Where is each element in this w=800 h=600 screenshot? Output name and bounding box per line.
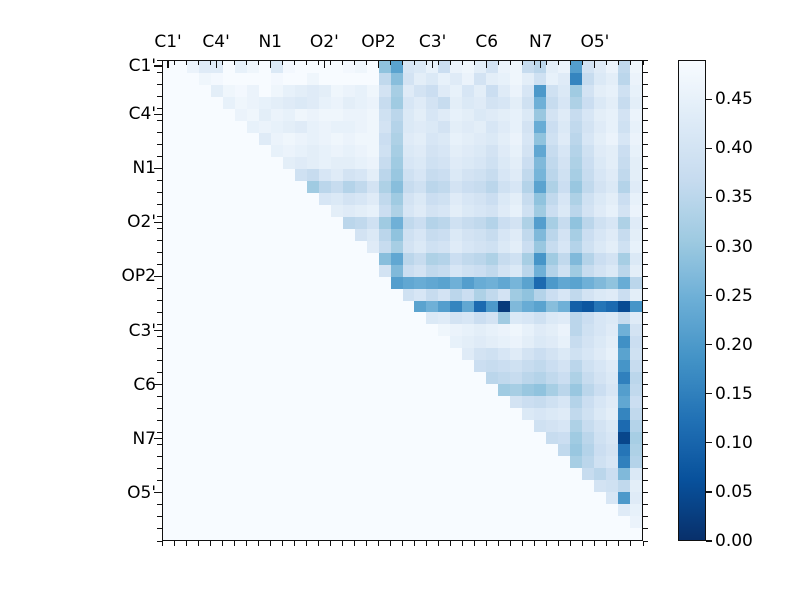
heatmap-cell [391,205,403,217]
x-tick-bottom [294,541,295,546]
heatmap-cell [163,324,175,336]
heatmap-cell [307,348,319,360]
heatmap-cell [367,348,379,360]
heatmap-cell [247,456,259,468]
x-tick-top [534,60,535,65]
heatmap-cell [247,157,259,169]
heatmap-cell [498,312,510,324]
heatmap-cell [570,97,582,109]
heatmap-cell [438,157,450,169]
heatmap-cell [307,384,319,396]
y-tick-left [157,72,162,73]
heatmap-cell [211,265,223,277]
y-tick-left [157,468,162,469]
heatmap-cell [558,61,570,73]
heatmap-cell [414,121,426,133]
heatmap-cell [486,157,498,169]
heatmap-cell [223,480,235,492]
heatmap-cell [211,121,223,133]
heatmap-cell [510,121,522,133]
y-tick-right [643,60,648,61]
heatmap-cell [175,432,187,444]
heatmap-cell [391,217,403,229]
heatmap-cell [510,348,522,360]
heatmap-cell [546,324,558,336]
heatmap-cell [307,480,319,492]
heatmap-cell [618,217,630,229]
heatmap-cell [175,372,187,384]
heatmap-cell [570,492,582,504]
x-tick-top [390,60,391,65]
heatmap-cell [630,432,642,444]
heatmap-cell [438,324,450,336]
heatmap-cell [534,85,546,97]
heatmap-cell [283,205,295,217]
heatmap-cell [546,468,558,480]
heatmap-cell [438,396,450,408]
heatmap-cell [414,109,426,121]
heatmap-cell [582,324,594,336]
y-tick-right [643,420,648,421]
heatmap-cell [534,253,546,265]
heatmap-cell [606,61,618,73]
heatmap-cell [187,301,199,313]
y-tick-right [643,528,648,529]
heatmap-cell [367,408,379,420]
heatmap-cell [486,109,498,121]
heatmap-cell [582,73,594,85]
heatmap-cell [355,336,367,348]
heatmap-cell [319,444,331,456]
heatmap-cell [414,61,426,73]
heatmap-cell [498,396,510,408]
heatmap-cell [175,97,187,109]
heatmap-cell [187,444,199,456]
heatmap-cell [594,217,606,229]
heatmap-cell [546,61,558,73]
heatmap-cell [438,289,450,301]
heatmap-cell [618,408,630,420]
heatmap-cell [283,241,295,253]
heatmap-cell [498,336,510,348]
heatmap-cell [199,145,211,157]
x-tick-top [474,60,475,65]
heatmap-cell [163,420,175,432]
heatmap-cell [498,492,510,504]
heatmap-cell [199,336,211,348]
heatmap-cell [163,492,175,504]
x-tick-bottom [306,541,307,546]
heatmap-cell [606,348,618,360]
heatmap-cell [235,157,247,169]
heatmap-cell [391,121,403,133]
heatmap-cell [319,324,331,336]
heatmap-cell [630,145,642,157]
heatmap-cell [175,324,187,336]
heatmap-cell [367,432,379,444]
heatmap-cell [199,229,211,241]
heatmap-cell [426,504,438,516]
heatmap-cell [199,277,211,289]
heatmap-cell [522,480,534,492]
heatmap-cell [438,253,450,265]
heatmap-cell [211,384,223,396]
heatmap-cell [331,420,343,432]
heatmap-cell [534,277,546,289]
heatmap-cell [343,109,355,121]
heatmap-cell [271,253,283,265]
heatmap-cell [558,444,570,456]
heatmap-cell [438,312,450,324]
heatmap-cell [295,85,307,97]
heatmap-cell [558,456,570,468]
heatmap-cell [618,372,630,384]
heatmap-cell [163,516,175,528]
heatmap-cell [319,193,331,205]
heatmap-cell [199,480,211,492]
heatmap-cell [474,468,486,480]
heatmap-cell [355,324,367,336]
heatmap-cell [223,289,235,301]
heatmap-cell [426,444,438,456]
y-tick-right [643,264,648,265]
heatmap-cell [343,312,355,324]
heatmap-cell [235,528,247,540]
heatmap-cell [379,169,391,181]
heatmap-cell [331,528,343,540]
heatmap-cell [175,253,187,265]
heatmap-cell [510,528,522,540]
x-tick-bottom [618,541,619,546]
heatmap-cell [582,289,594,301]
heatmap-cell [522,528,534,540]
heatmap-cell [211,229,223,241]
heatmap-cell [295,193,307,205]
heatmap-cell [426,157,438,169]
heatmap-cell [414,408,426,420]
heatmap-cell [486,265,498,277]
y-tick-right [643,120,648,121]
heatmap-cell [295,480,307,492]
heatmap-cell [534,169,546,181]
heatmap-cell [319,420,331,432]
heatmap-cell [187,133,199,145]
heatmap-cell [175,181,187,193]
heatmap-cell [391,229,403,241]
heatmap-cell [331,408,343,420]
heatmap-cell [438,456,450,468]
heatmap-cell [343,528,355,540]
x-tick-bottom [270,541,271,546]
heatmap-cell [414,97,426,109]
heatmap-cell [570,444,582,456]
heatmap-cell [331,217,343,229]
heatmap-cell [331,492,343,504]
heatmap-cell [271,468,283,480]
colorbar-label-1: 0.05 [715,482,753,502]
heatmap-cell [211,372,223,384]
heatmap-cell [570,420,582,432]
heatmap-cell [355,528,367,540]
heatmap-cell [379,504,391,516]
heatmap-cell [438,528,450,540]
heatmap-cell [582,121,594,133]
heatmap-cell [546,109,558,121]
heatmap-cell [414,420,426,432]
heatmap-cell [367,324,379,336]
x-tick-top [582,60,583,65]
heatmap-cell [594,468,606,480]
heatmap-cell [594,432,606,444]
heatmap-cell [522,289,534,301]
heatmap-cell [414,73,426,85]
heatmap-cell [606,528,618,540]
heatmap-cell [414,265,426,277]
heatmap-cell [594,396,606,408]
heatmap-cell [307,468,319,480]
y-tick-right [643,492,648,493]
heatmap-cell [355,97,367,109]
heatmap-cell [546,265,558,277]
heatmap-cell [331,205,343,217]
heatmap-cell [331,516,343,528]
x-tick-bottom [414,541,415,546]
heatmap-cell [175,516,187,528]
heatmap-cell [438,217,450,229]
heatmap-cell [247,145,259,157]
heatmap-cell [450,193,462,205]
x-tick-top [606,60,607,65]
heatmap-cell [474,253,486,265]
heatmap-cell [630,516,642,528]
heatmap-cell [438,145,450,157]
heatmap-cell [187,384,199,396]
heatmap-cell [199,348,211,360]
heatmap-cell [283,516,295,528]
heatmap-cell [630,528,642,540]
heatmap-cell [534,360,546,372]
heatmap-cell [187,109,199,121]
heatmap-cell [522,241,534,253]
heatmap-cell [582,336,594,348]
heatmap-cell [546,312,558,324]
heatmap-cell [247,241,259,253]
heatmap-cell [355,133,367,145]
heatmap-cell [199,432,211,444]
y-tick-left [157,192,162,193]
heatmap-cell [391,301,403,313]
heatmap-cell [426,97,438,109]
heatmap-cell [295,372,307,384]
heatmap-cell [223,516,235,528]
heatmap-cell [546,504,558,516]
x-tick-bottom [498,541,499,546]
heatmap-cell [175,169,187,181]
heatmap-cell [175,384,187,396]
y-tick-right [643,72,648,73]
colorbar-label-7: 0.35 [715,187,753,207]
x-tick-top [234,60,235,65]
heatmap-cell [582,432,594,444]
heatmap-cell [582,516,594,528]
heatmap-cell [450,181,462,193]
heatmap-cell [307,396,319,408]
heatmap-cell [498,121,510,133]
heatmap-cell [271,516,283,528]
y-tick-left [157,516,162,517]
heatmap-cell [534,516,546,528]
heatmap-cell [498,85,510,97]
heatmap-cell [379,253,391,265]
heatmap-cell [522,360,534,372]
heatmap-cell [259,97,271,109]
heatmap-cell [474,193,486,205]
heatmap-cell [522,456,534,468]
heatmap-cell [331,241,343,253]
heatmap-cell [379,312,391,324]
heatmap-cell [391,504,403,516]
heatmap-cell [534,157,546,169]
heatmap-cell [570,145,582,157]
heatmap-cell [582,145,594,157]
heatmap-cell [199,205,211,217]
heatmap-cell [594,456,606,468]
heatmap-cell [403,265,415,277]
heatmap-cell [175,456,187,468]
heatmap-cell [630,408,642,420]
heatmap-cell [343,181,355,193]
heatmap-cell [319,277,331,289]
heatmap-cell [450,217,462,229]
y-axis-label-8: O5' [118,483,156,503]
heatmap-cell [558,492,570,504]
y-tick-left [157,396,162,397]
heatmap-cell [438,492,450,504]
heatmap-cell [522,492,534,504]
heatmap-cell [211,408,223,420]
y-tick-right [643,204,648,205]
heatmap-cell [379,384,391,396]
heatmap-cell [223,157,235,169]
heatmap-cell [618,444,630,456]
y-tick-left [157,204,162,205]
heatmap-cell [379,121,391,133]
heatmap-cell [534,217,546,229]
heatmap-cell [570,360,582,372]
heatmap-cell [319,408,331,420]
heatmap-cell [630,109,642,121]
heatmap-cell [295,277,307,289]
heatmap-cell [546,432,558,444]
heatmap-cell [510,456,522,468]
y-tick-left [157,480,162,481]
heatmap-cell [630,253,642,265]
heatmap-cell [247,97,259,109]
y-tick-right [643,516,648,517]
heatmap-cell [426,169,438,181]
heatmap-cell [474,384,486,396]
heatmap-cell [522,97,534,109]
heatmap-cell [271,444,283,456]
y-tick-left [157,312,162,313]
heatmap-cell [163,205,175,217]
heatmap-cell [474,516,486,528]
heatmap-cell [414,396,426,408]
heatmap-cell [403,61,415,73]
y-axis-label-5: C3' [118,321,156,341]
y-major-tick [154,65,162,66]
heatmap-cell [331,372,343,384]
heatmap-cell [462,372,474,384]
heatmap-cell [367,360,379,372]
heatmap-cell [163,217,175,229]
heatmap-cell [307,193,319,205]
heatmap-cell [343,468,355,480]
heatmap-cell [450,336,462,348]
heatmap-cell [462,229,474,241]
heatmap-cell [462,444,474,456]
heatmap-cell [211,360,223,372]
heatmap-cell [474,444,486,456]
heatmap-cell [283,85,295,97]
heatmap-cell [534,324,546,336]
heatmap-cell [259,492,271,504]
heatmap-cell [283,492,295,504]
heatmap-cell [474,241,486,253]
heatmap-cell [618,169,630,181]
heatmap-cell [331,348,343,360]
colorbar-tick [706,442,712,443]
heatmap-cell [630,181,642,193]
heatmap-cell [450,277,462,289]
heatmap-cell [426,468,438,480]
heatmap-cell [163,289,175,301]
heatmap-cell [163,121,175,133]
heatmap-cell [295,181,307,193]
heatmap-cell [343,229,355,241]
heatmap-cell [594,312,606,324]
heatmap-cell [630,289,642,301]
y-major-tick [154,168,162,169]
heatmap-cell [498,61,510,73]
heatmap-cell [403,229,415,241]
heatmap-cell [271,97,283,109]
heatmap-cell [259,444,271,456]
heatmap-cell [618,348,630,360]
heatmap-cell [343,169,355,181]
heatmap-cell [391,277,403,289]
heatmap-cell [187,408,199,420]
heatmap-cell [271,348,283,360]
heatmap-cell [582,420,594,432]
heatmap-cell [271,229,283,241]
heatmap-cell [498,277,510,289]
heatmap-cell [594,85,606,97]
heatmap-cell [319,504,331,516]
heatmap-cell [450,480,462,492]
heatmap-cell [283,301,295,313]
heatmap-cell [534,456,546,468]
heatmap-cell [223,312,235,324]
heatmap-cell [534,480,546,492]
heatmap-cell [594,97,606,109]
heatmap-cell [247,193,259,205]
heatmap-cell [486,528,498,540]
heatmap-cell [307,121,319,133]
heatmap-cell [331,85,343,97]
heatmap-cell [199,324,211,336]
heatmap-cell [295,301,307,313]
